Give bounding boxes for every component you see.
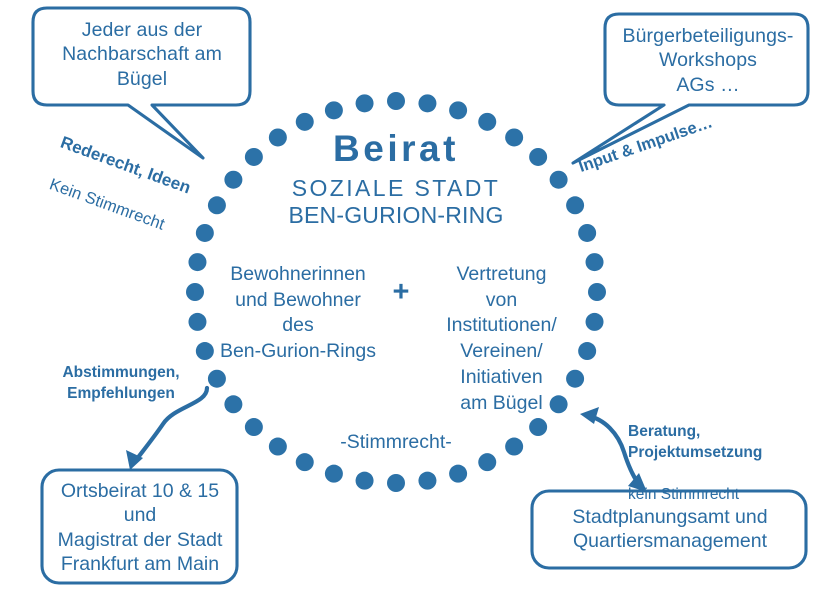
ring-dot — [356, 472, 374, 490]
connector-label-beratung-regular: kein Stimmrecht — [628, 485, 808, 506]
diagram-canvas: Jeder aus der Nachbarschaft am Bügel Bür… — [0, 0, 820, 600]
connector-label-beratung-bold: Beratung, Projektumsetzung — [628, 422, 808, 464]
page-subtitle-secondary: BEN-GURION-RING — [250, 203, 542, 228]
ring-dot — [269, 438, 287, 456]
ring-dot — [387, 474, 405, 492]
box-bottom-left-text: Ortsbeirat 10 & 15 und Magistrat der Sta… — [46, 479, 234, 577]
connector-label-abstimmungen: Abstimmungen, Empfehlungen — [46, 363, 196, 405]
ring-dot — [449, 465, 467, 483]
ring-dot — [188, 313, 206, 331]
ring-dot — [449, 101, 467, 119]
page-title: Beirat — [250, 130, 542, 169]
ring-dot — [550, 171, 568, 189]
plus-icon: + — [388, 278, 414, 307]
ring-dot — [529, 418, 547, 436]
ring-dot — [224, 395, 242, 413]
ring-dot — [478, 453, 496, 471]
ring-dot — [578, 224, 596, 242]
ring-dot — [296, 113, 314, 131]
speech-bubble-top-right-text: Bürgerbeteiligungs- Workshops AGs … — [612, 24, 804, 97]
ring-dot — [245, 418, 263, 436]
ring-dot — [296, 453, 314, 471]
ring-dot — [478, 113, 496, 131]
member-group-institutions: Vertretung von Institutionen/ Vereinen/ … — [414, 262, 589, 416]
ring-dot — [325, 101, 343, 119]
ring-dot — [418, 94, 436, 112]
connector-label-beratung: Beratung, Projektumsetzung kein Stimmrec… — [628, 401, 808, 527]
ring-dot — [325, 465, 343, 483]
page-subtitle-primary: SOZIALE STADT — [250, 176, 542, 201]
ring-dot — [356, 94, 374, 112]
ring-dot — [566, 196, 584, 214]
ring-dot — [505, 438, 523, 456]
member-group-residents: Bewohnerinnen und Bewohner des Ben-Gurio… — [208, 262, 388, 365]
ring-dot — [208, 370, 226, 388]
ring-dot — [588, 283, 606, 301]
ring-dot — [387, 92, 405, 110]
voting-rights-note: -Stimmrecht- — [296, 430, 496, 454]
ring-dot — [418, 472, 436, 490]
ring-dot — [186, 283, 204, 301]
speech-bubble-top-left-text: Jeder aus der Nachbarschaft am Bügel — [42, 18, 242, 91]
